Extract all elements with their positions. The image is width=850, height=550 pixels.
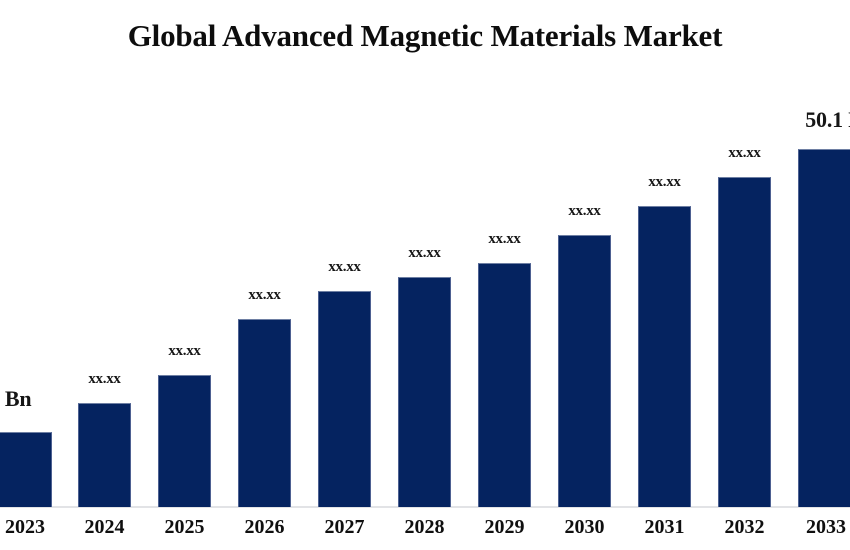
- bar-2026[interactable]: [238, 319, 291, 507]
- value-label-2028: xx.xx: [398, 245, 451, 262]
- value-label-2025: xx.xx: [158, 343, 211, 360]
- x-tick-label-2025: 2025: [150, 515, 219, 539]
- bar-2027[interactable]: [318, 291, 371, 507]
- bar-2028[interactable]: [398, 277, 451, 507]
- bar-2029[interactable]: [478, 263, 531, 507]
- bar-2030[interactable]: [558, 235, 611, 507]
- value-label-2030: xx.xx: [558, 203, 611, 220]
- bar-2023[interactable]: [0, 432, 52, 507]
- chart-canvas: Global Advanced Magnetic Materials Marke…: [0, 0, 850, 550]
- value-label-2027: xx.xx: [318, 259, 371, 276]
- plot-area: 5.3 Bnxx.xxxx.xxxx.xxxx.xxxx.xxxx.xxxx.x…: [0, 0, 850, 550]
- bar-2024[interactable]: [78, 403, 131, 507]
- x-tick-label-2030: 2030: [550, 515, 619, 539]
- x-tick-label-2031: 2031: [630, 515, 699, 539]
- bar-2032[interactable]: [718, 177, 771, 507]
- x-tick-label-2026: 2026: [230, 515, 299, 539]
- value-label-2032: xx.xx: [718, 145, 771, 162]
- value-label-2033: 50.1 B: [784, 107, 850, 133]
- value-label-2024: xx.xx: [78, 371, 131, 388]
- x-tick-label-2033: 2033: [790, 515, 850, 539]
- x-tick-label-2024: 2024: [70, 515, 139, 539]
- value-label-2026: xx.xx: [238, 287, 291, 304]
- bar-2025[interactable]: [158, 375, 211, 507]
- value-label-2031: xx.xx: [638, 174, 691, 191]
- x-tick-label-2023: 2023: [0, 515, 60, 539]
- x-tick-label-2028: 2028: [390, 515, 459, 539]
- x-tick-label-2029: 2029: [470, 515, 539, 539]
- x-tick-label-2027: 2027: [310, 515, 379, 539]
- bar-2033[interactable]: [798, 149, 850, 507]
- value-label-2029: xx.xx: [478, 231, 531, 248]
- bar-2031[interactable]: [638, 206, 691, 507]
- x-tick-label-2032: 2032: [710, 515, 779, 539]
- value-label-2023: 5.3 Bn: [0, 386, 52, 412]
